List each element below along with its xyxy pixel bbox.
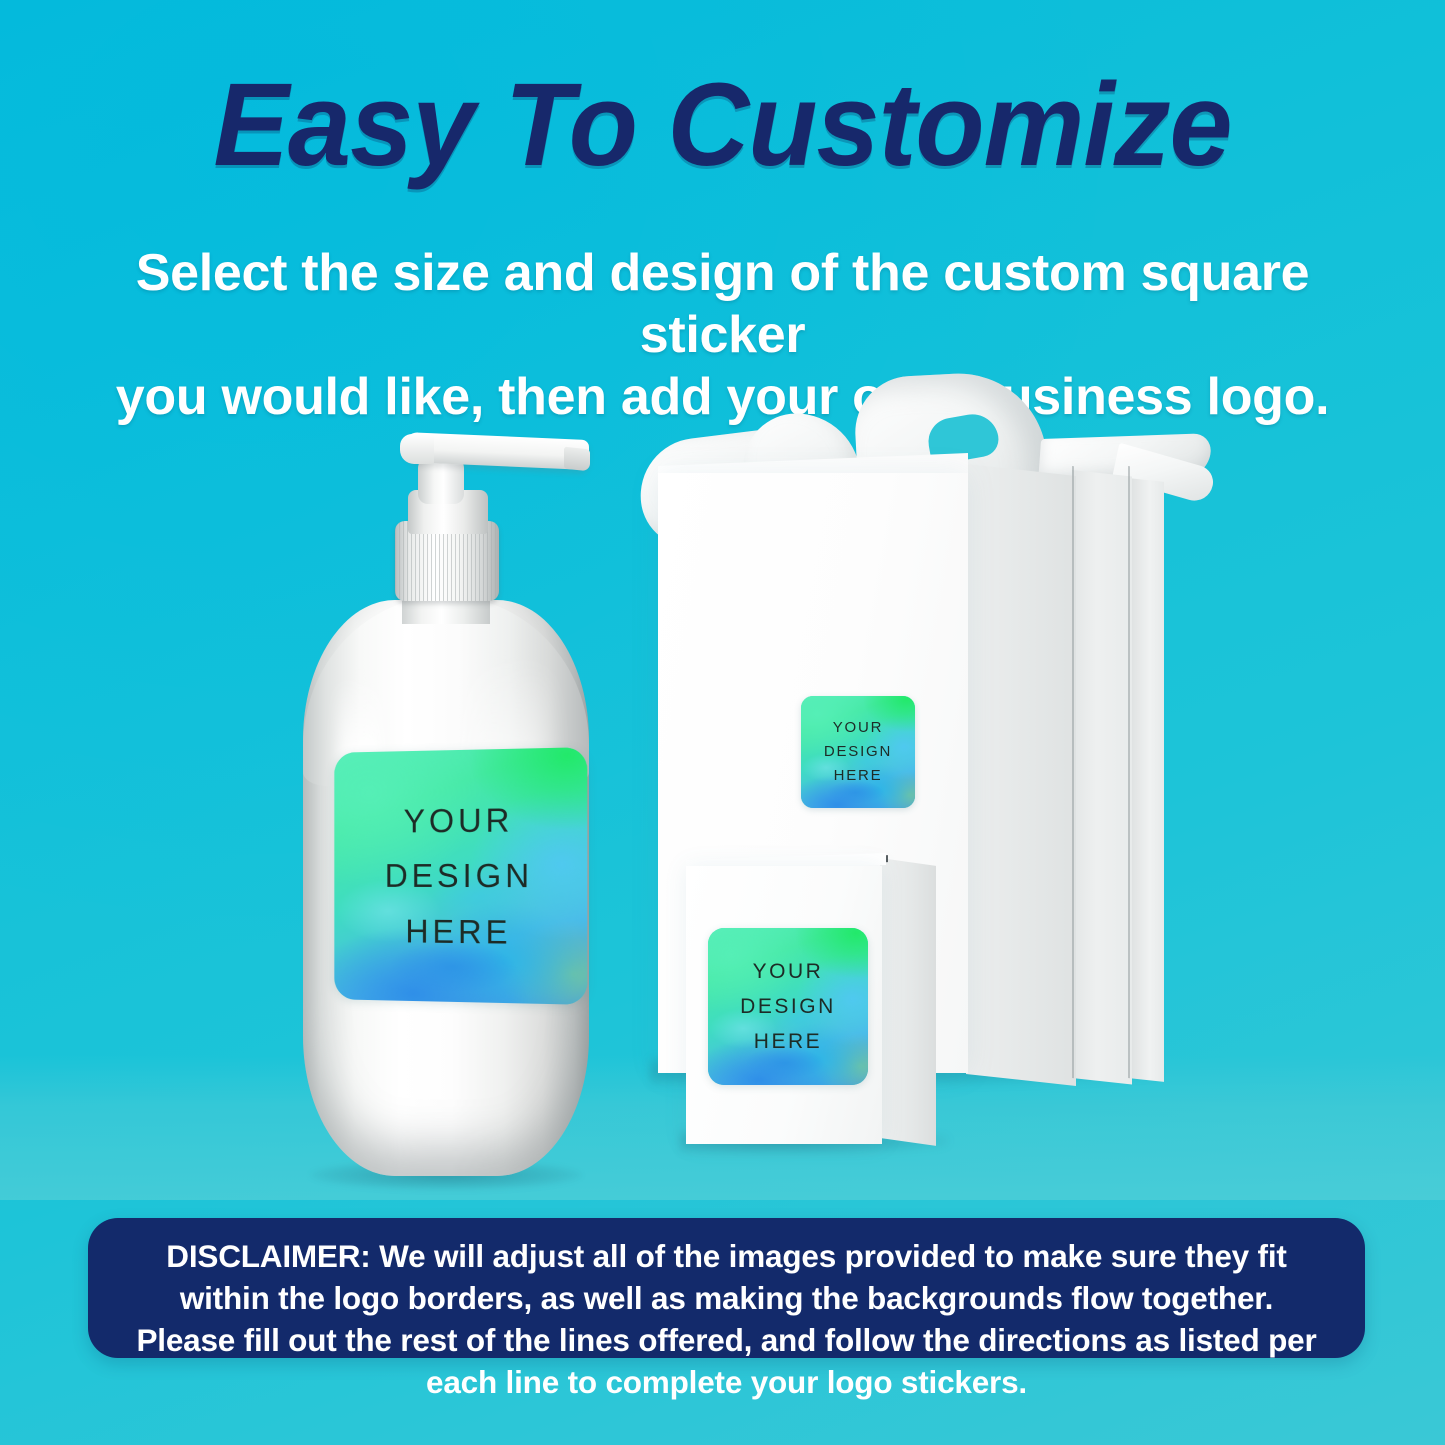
page-title: Easy To Customize bbox=[29, 66, 1416, 184]
gift-box-side-panel-2 bbox=[1072, 470, 1132, 1085]
disclaimer-text: DISCLAIMER: We will adjust all of the im… bbox=[88, 1218, 1365, 1404]
sticker-text-line-1: YOUR bbox=[833, 716, 884, 740]
pump-stem bbox=[418, 458, 464, 504]
gift-box-seam-2 bbox=[1128, 466, 1130, 1078]
gift-box-side-panel-1 bbox=[966, 464, 1076, 1086]
sticker-text-line-3: HERE bbox=[405, 903, 511, 959]
promo-image-root: Easy To Customize Select the size and de… bbox=[0, 0, 1445, 1445]
small-box-mockup: YOUR DESIGN HERE bbox=[686, 852, 946, 1152]
small-box-side-panel bbox=[880, 858, 936, 1146]
pump-nozzle-icon bbox=[564, 447, 590, 472]
disclaimer-label: DISCLAIMER: bbox=[166, 1238, 370, 1274]
sticker-text-block: YOUR DESIGN HERE bbox=[334, 747, 587, 1005]
sticker-on-small-box[interactable]: YOUR DESIGN HERE bbox=[708, 928, 868, 1085]
sticker-text-line-1: YOUR bbox=[753, 954, 824, 989]
sticker-text-line-3: HERE bbox=[834, 764, 883, 788]
page-subtitle: Select the size and design of the custom… bbox=[100, 243, 1345, 429]
sticker-text-block: YOUR DESIGN HERE bbox=[708, 928, 868, 1085]
gift-box-seam-1 bbox=[1072, 466, 1074, 1078]
sticker-on-bottle[interactable]: YOUR DESIGN HERE bbox=[334, 747, 587, 1005]
sticker-on-gift-box[interactable]: YOUR DESIGN HERE bbox=[801, 696, 915, 808]
sticker-text-line-2: DESIGN bbox=[740, 989, 836, 1024]
pump-arm-back-lip bbox=[400, 434, 434, 464]
page-subtitle-line-1: Select the size and design of the custom… bbox=[100, 243, 1345, 367]
sticker-text-line-2: DESIGN bbox=[824, 740, 892, 764]
sticker-text-line-1: YOUR bbox=[404, 792, 514, 849]
sticker-text-block: YOUR DESIGN HERE bbox=[801, 696, 915, 808]
sticker-text-line-2: DESIGN bbox=[385, 848, 533, 904]
gift-box-side-panel-3 bbox=[1128, 478, 1164, 1082]
sticker-text-line-3: HERE bbox=[754, 1024, 822, 1059]
disclaimer-banner: DISCLAIMER: We will adjust all of the im… bbox=[88, 1218, 1365, 1358]
